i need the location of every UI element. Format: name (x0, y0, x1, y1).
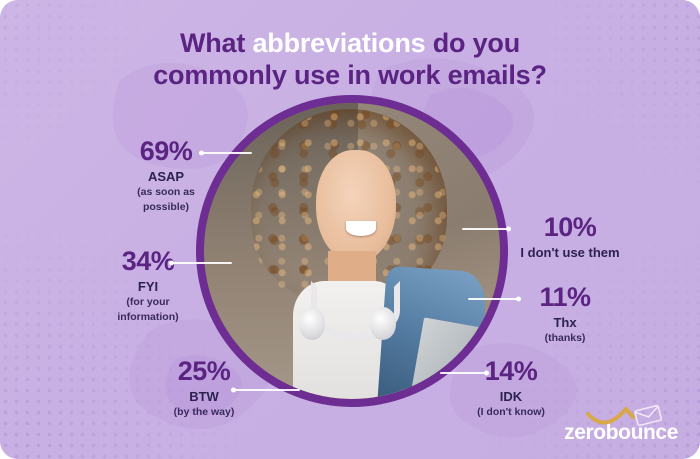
page-title: What abbreviations do you commonly use i… (0, 28, 700, 92)
infographic-canvas: What abbreviations do you commonly use i… (0, 0, 700, 459)
connector-idk (440, 372, 488, 374)
title-line-1: What abbreviations do you (0, 28, 700, 60)
zerobounce-logo[interactable]: zero bounce (564, 422, 678, 443)
callout-idk: 14% IDK (I don't know) (446, 358, 576, 419)
callout-btw-abbr: BTW (140, 390, 268, 404)
callout-none: 10% I don't use them (502, 214, 638, 260)
callout-thx-sub-1: (thanks) (510, 332, 620, 345)
face-shape (316, 150, 396, 262)
connector-thx (468, 298, 520, 300)
callout-asap-sub-1: (as soon as (108, 186, 224, 199)
callout-fyi-abbr: FYI (84, 280, 212, 294)
callout-fyi-sub-2: information) (84, 311, 212, 324)
callout-asap-sub-2: possible) (108, 201, 224, 214)
headphone-earcup-right (370, 307, 397, 340)
connector-fyi (170, 262, 232, 264)
callout-thx-percent: 11% (510, 284, 620, 311)
callout-fyi: 34% FYI (for your information) (84, 248, 212, 323)
callout-asap-abbr: ASAP (108, 170, 224, 184)
callout-none-abbr: I don't use them (502, 246, 638, 260)
headphone-earcup-left (299, 307, 326, 340)
connector-none (462, 228, 510, 230)
title-text-what: What (180, 28, 253, 58)
callout-idk-abbr: IDK (446, 390, 576, 404)
connector-btw (232, 389, 300, 391)
portrait-photo (204, 103, 500, 399)
callout-fyi-sub-1: (for your (84, 296, 212, 309)
smile-shape (346, 221, 376, 236)
callout-btw-sub-1: (by the way) (140, 406, 268, 419)
callout-thx-abbr: Thx (510, 316, 620, 330)
envelope-check-icon (586, 405, 670, 429)
title-highlight-abbreviations: abbreviations (252, 28, 425, 58)
title-text-do-you: do you (425, 28, 520, 58)
callout-thx: 11% Thx (thanks) (510, 284, 620, 345)
connector-asap (200, 152, 252, 154)
title-line-2: commonly use in work emails? (0, 60, 700, 92)
callout-btw-percent: 25% (140, 358, 268, 385)
callout-none-percent: 10% (502, 214, 638, 241)
callout-asap: 69% ASAP (as soon as possible) (108, 138, 224, 213)
callout-idk-sub-1: (I don't know) (446, 406, 576, 419)
